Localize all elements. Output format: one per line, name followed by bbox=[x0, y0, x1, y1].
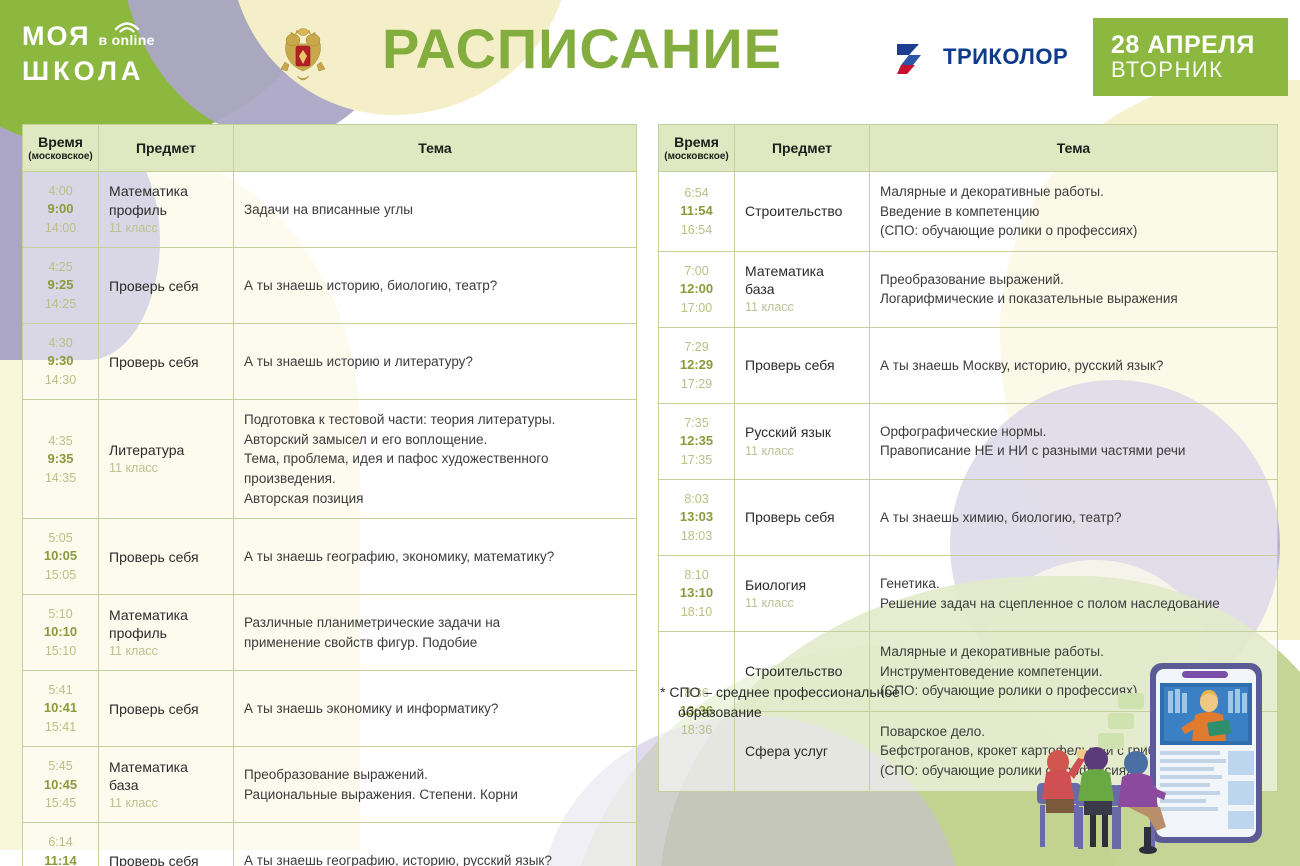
theme-line: Подготовка к тестовой части: теория лите… bbox=[244, 410, 626, 430]
brand-logo: МОЯ в online ШКОЛА bbox=[22, 20, 192, 85]
time-main: 10:45 bbox=[44, 776, 77, 795]
table-row[interactable]: 4:359:3514:35Литература11 классПодготовк… bbox=[23, 400, 636, 519]
subject-grade: 11 класс bbox=[109, 460, 223, 477]
page-header: МОЯ в online ШКОЛА bbox=[0, 0, 1300, 115]
cell-time: 7:3512:3517:35 bbox=[659, 404, 735, 479]
wifi-icon bbox=[114, 20, 140, 33]
subject-name: Проверь себя bbox=[109, 277, 223, 295]
time-main: 11:14 bbox=[44, 852, 77, 866]
date-weekday: ВТОРНИК bbox=[1111, 58, 1288, 82]
online-lesson-illustration bbox=[1032, 655, 1282, 860]
theme-line: А ты знаешь историю и литературу? bbox=[244, 352, 626, 372]
cell-time: 7:0012:0017:00 bbox=[659, 252, 735, 327]
cell-subject: Проверь себя bbox=[99, 324, 234, 399]
theme-line: Логарифмические и показательные выражени… bbox=[880, 289, 1267, 309]
column-header-time-label: Время bbox=[38, 134, 83, 150]
subject-grade: 11 класс bbox=[109, 795, 223, 812]
cell-theme: Различные планиметрические задачи наприм… bbox=[234, 595, 636, 670]
column-header-subject-label: Предмет bbox=[772, 140, 832, 156]
theme-line: А ты знаешь химию, биологию, театр? bbox=[880, 508, 1267, 528]
cell-subject: Проверь себя bbox=[735, 480, 870, 555]
cell-theme: А ты знаешь географию, экономику, матема… bbox=[234, 519, 636, 594]
subject-name: Проверь себя bbox=[745, 356, 859, 374]
time-late: 17:00 bbox=[681, 299, 712, 317]
time-early: 5:45 bbox=[48, 757, 72, 775]
table-row[interactable]: 7:0012:0017:00Математикабаза11 классПрео… bbox=[659, 252, 1277, 328]
subject-name: Математика bbox=[745, 262, 859, 280]
subject-name: Сфера услуг bbox=[745, 742, 859, 760]
subject-name: Проверь себя bbox=[109, 700, 223, 718]
subject-name: база bbox=[745, 280, 859, 298]
cell-time: 4:259:2514:25 bbox=[23, 248, 99, 323]
time-early: 5:41 bbox=[48, 681, 72, 699]
theme-line: (СПО: обучающие ролики о профессиях) bbox=[880, 221, 1267, 241]
column-header-subject: Предмет bbox=[99, 125, 234, 171]
column-header-time-sublabel: (московское) bbox=[664, 151, 728, 162]
cell-theme: А ты знаешь историю и литературу? bbox=[234, 324, 636, 399]
subject-name: Проверь себя bbox=[109, 548, 223, 566]
schedule-infographic: МОЯ в online ШКОЛА bbox=[0, 0, 1300, 866]
time-main: 12:35 bbox=[680, 432, 713, 451]
cell-time: 5:0510:0515:05 bbox=[23, 519, 99, 594]
column-header-time-sublabel: (московское) bbox=[28, 151, 92, 162]
time-late: 16:54 bbox=[681, 221, 712, 239]
time-late: 14:30 bbox=[45, 371, 76, 389]
table-row[interactable]: 8:0313:0318:03Проверь себяА ты знаешь хи… bbox=[659, 480, 1277, 556]
time-early: 5:05 bbox=[48, 529, 72, 547]
time-early: 4:00 bbox=[48, 182, 72, 200]
logo-online-label: в online bbox=[99, 32, 155, 48]
subject-name: Математика bbox=[109, 182, 223, 200]
time-late: 18:10 bbox=[681, 603, 712, 621]
column-header-theme-label: Тема bbox=[1057, 140, 1090, 156]
column-header-subject: Предмет bbox=[735, 125, 870, 171]
time-early: 4:35 bbox=[48, 432, 72, 450]
cell-time: 5:4510:4515:45 bbox=[23, 747, 99, 822]
theme-line: Задачи на вписанные углы bbox=[244, 200, 626, 220]
cell-theme: А ты знаешь историю, биологию, театр? bbox=[234, 248, 636, 323]
cell-time: 8:1013:1018:10 bbox=[659, 556, 735, 631]
subject-name: Строительство bbox=[745, 202, 859, 220]
column-header-time-label: Время bbox=[674, 134, 719, 150]
table-header-row: Время (московское) Предмет Тема bbox=[659, 125, 1277, 172]
time-late: 17:35 bbox=[681, 451, 712, 469]
cell-subject: Математикабаза11 класс bbox=[735, 252, 870, 327]
cell-time: 7:2912:2917:29 bbox=[659, 328, 735, 403]
schedule-table-left: Время (московское) Предмет Тема 4:009:00… bbox=[22, 124, 637, 866]
theme-line: Преобразование выражений. bbox=[244, 765, 626, 785]
theme-line: Правописание НЕ и НИ с разными частями р… bbox=[880, 441, 1267, 461]
subject-grade: 11 класс bbox=[745, 595, 859, 612]
subject-name: Русский язык bbox=[745, 423, 859, 441]
column-header-time: Время (московское) bbox=[659, 125, 735, 171]
time-late: 14:25 bbox=[45, 295, 76, 313]
table-row[interactable]: 6:5411:5416:54СтроительствоМалярные и де… bbox=[659, 172, 1277, 252]
table-row[interactable]: 4:009:0014:00Математикапрофиль11 классЗа… bbox=[23, 172, 636, 248]
cell-subject: Сфера услуг bbox=[735, 712, 870, 791]
time-early: 7:00 bbox=[684, 262, 708, 280]
time-late: 15:45 bbox=[45, 794, 76, 812]
cell-subject: Математикапрофиль11 класс bbox=[99, 172, 234, 247]
theme-line: Решение задач на сцепленное с полом насл… bbox=[880, 594, 1267, 614]
subject-name: Проверь себя bbox=[109, 353, 223, 371]
subject-name: база bbox=[109, 776, 223, 794]
time-main: 9:35 bbox=[47, 450, 73, 469]
theme-line: А ты знаешь Москву, историю, русский язы… bbox=[880, 356, 1267, 376]
partner-logo-tricolor: ТРИКОЛОР bbox=[895, 38, 1068, 76]
column-header-time: Время (московское) bbox=[23, 125, 99, 171]
time-late: 17:29 bbox=[681, 375, 712, 393]
theme-line: Орфографические нормы. bbox=[880, 422, 1267, 442]
table-body-left: 4:009:0014:00Математикапрофиль11 классЗа… bbox=[23, 172, 636, 866]
cell-time: 6:5411:5416:54 bbox=[659, 172, 735, 251]
table-row[interactable]: 6:1411:1416:14Проверь себяА ты знаешь ге… bbox=[23, 823, 636, 866]
cell-time: 4:309:3014:30 bbox=[23, 324, 99, 399]
subject-name: Проверь себя bbox=[109, 852, 223, 866]
cell-subject: Проверь себя bbox=[99, 519, 234, 594]
time-main: 12:29 bbox=[680, 356, 713, 375]
table-row[interactable]: 5:4110:4115:41Проверь себяА ты знаешь эк… bbox=[23, 671, 636, 747]
theme-line: А ты знаешь географию, историю, русский … bbox=[244, 851, 626, 866]
cell-time: 6:1411:1416:14 bbox=[23, 823, 99, 866]
time-late: 18:03 bbox=[681, 527, 712, 545]
cell-theme: А ты знаешь химию, биологию, театр? bbox=[870, 480, 1277, 555]
cell-theme: Преобразование выражений.Логарифмические… bbox=[870, 252, 1277, 327]
time-early: 8:10 bbox=[684, 566, 708, 584]
subject-grade: 11 класс bbox=[109, 643, 223, 660]
cell-subject: Проверь себя bbox=[735, 328, 870, 403]
theme-line: Тема, проблема, идея и пафос художествен… bbox=[244, 449, 626, 469]
cell-subject: Биология11 класс bbox=[735, 556, 870, 631]
cell-time: 8:0313:0318:03 bbox=[659, 480, 735, 555]
cell-subject: Математикабаза11 класс bbox=[99, 747, 234, 822]
cell-subject: Русский язык11 класс bbox=[735, 404, 870, 479]
logo-line-moya: МОЯ bbox=[22, 23, 91, 50]
time-early: 7:35 bbox=[684, 414, 708, 432]
tricolor-chevron-icon bbox=[895, 38, 937, 76]
time-main: 13:03 bbox=[680, 508, 713, 527]
time-early: 4:30 bbox=[48, 334, 72, 352]
theme-line: Генетика. bbox=[880, 574, 1267, 594]
table-row[interactable]: 7:3512:3517:35Русский язык11 классОрфогр… bbox=[659, 404, 1277, 480]
theme-line: Введение в компетенцию bbox=[880, 202, 1267, 222]
time-main: 9:25 bbox=[47, 276, 73, 295]
subject-grade: 11 класс bbox=[745, 299, 859, 316]
table-row[interactable]: 5:0510:0515:05Проверь себяА ты знаешь ге… bbox=[23, 519, 636, 595]
russian-coat-of-arms-icon bbox=[275, 24, 331, 96]
time-early: 8:03 bbox=[684, 490, 708, 508]
subject-name: Строительство bbox=[745, 662, 859, 680]
time-early: 7:29 bbox=[684, 338, 708, 356]
footnote: * СПО – среднее профессиональное образов… bbox=[660, 682, 1020, 723]
subject-name: Математика bbox=[109, 758, 223, 776]
time-early: 6:14 bbox=[48, 833, 72, 851]
time-late: 15:05 bbox=[45, 566, 76, 584]
theme-line: Рациональные выражения. Степени. Корни bbox=[244, 785, 626, 805]
column-header-theme: Тема bbox=[234, 125, 636, 171]
theme-line: Преобразование выражений. bbox=[880, 270, 1267, 290]
table-row[interactable]: 7:2912:2917:29Проверь себяА ты знаешь Мо… bbox=[659, 328, 1277, 404]
cell-theme: Преобразование выражений.Рациональные вы… bbox=[234, 747, 636, 822]
logo-line-shkola: ШКОЛА bbox=[22, 58, 192, 85]
theme-line: произведения. bbox=[244, 469, 626, 489]
page-title: РАСПИСАНИЕ bbox=[382, 18, 782, 80]
subject-name: профиль bbox=[109, 201, 223, 219]
cell-theme: А ты знаешь экономику и информатику? bbox=[234, 671, 636, 746]
table-header-row: Время (московское) Предмет Тема bbox=[23, 125, 636, 172]
cell-theme: Генетика.Решение задач на сцепленное с п… bbox=[870, 556, 1277, 631]
subject-name: Математика bbox=[109, 606, 223, 624]
table-row[interactable]: 5:4510:4515:45Математикабаза11 классПрео… bbox=[23, 747, 636, 823]
time-main: 10:41 bbox=[44, 699, 77, 718]
footnote-line-1: * СПО – среднее профессиональное bbox=[660, 684, 900, 700]
time-main: 11:54 bbox=[680, 202, 713, 221]
cell-subject: Математикапрофиль11 класс bbox=[99, 595, 234, 670]
subject-name: профиль bbox=[109, 624, 223, 642]
cell-theme: Задачи на вписанные углы bbox=[234, 172, 636, 247]
column-header-theme: Тема bbox=[870, 125, 1277, 171]
table-row[interactable]: 4:309:3014:30Проверь себяА ты знаешь ист… bbox=[23, 324, 636, 400]
time-late: 14:00 bbox=[45, 219, 76, 237]
cell-theme: Подготовка к тестовой части: теория лите… bbox=[234, 400, 636, 518]
cell-subject: Литература11 класс bbox=[99, 400, 234, 518]
date-day: 28 АПРЕЛЯ bbox=[1111, 32, 1288, 58]
subject-name: Биология bbox=[745, 576, 859, 594]
cell-theme: А ты знаешь Москву, историю, русский язы… bbox=[870, 328, 1277, 403]
time-early: 4:25 bbox=[48, 258, 72, 276]
theme-line: А ты знаешь историю, биологию, театр? bbox=[244, 276, 626, 296]
theme-line: применение свойств фигур. Подобие bbox=[244, 633, 626, 653]
theme-line: Малярные и декоративные работы. bbox=[880, 182, 1267, 202]
cell-subject: Проверь себя bbox=[99, 823, 234, 866]
time-late: 14:35 bbox=[45, 469, 76, 487]
theme-line: А ты знаешь экономику и информатику? bbox=[244, 699, 626, 719]
subject-grade: 11 класс bbox=[109, 220, 223, 237]
cell-theme: Малярные и декоративные работы.Введение … bbox=[870, 172, 1277, 251]
subject-name: Литература bbox=[109, 441, 223, 459]
subject-name: Проверь себя bbox=[745, 508, 859, 526]
column-header-subject-label: Предмет bbox=[136, 140, 196, 156]
cell-theme: Орфографические нормы.Правописание НЕ и … bbox=[870, 404, 1277, 479]
cell-time: 4:009:0014:00 bbox=[23, 172, 99, 247]
theme-line: Авторский замысел и его воплощение. bbox=[244, 430, 626, 450]
time-late: 18:36 bbox=[681, 721, 712, 739]
theme-line: Различные планиметрические задачи на bbox=[244, 613, 626, 633]
time-main: 12:00 bbox=[680, 280, 713, 299]
time-main: 9:00 bbox=[47, 200, 73, 219]
time-main: 13:10 bbox=[680, 584, 713, 603]
time-main: 10:05 bbox=[44, 547, 77, 566]
cell-time: 5:1010:1015:10 bbox=[23, 595, 99, 670]
table-row[interactable]: 4:259:2514:25Проверь себяА ты знаешь ист… bbox=[23, 248, 636, 324]
time-main: 9:30 bbox=[47, 352, 73, 371]
column-header-theme-label: Тема bbox=[418, 140, 451, 156]
cell-subject: Строительство bbox=[735, 172, 870, 251]
time-late: 15:10 bbox=[45, 642, 76, 660]
table-row[interactable]: 5:1010:1015:10Математикапрофиль11 классР… bbox=[23, 595, 636, 671]
cell-time: 5:4110:4115:41 bbox=[23, 671, 99, 746]
cell-theme: А ты знаешь географию, историю, русский … bbox=[234, 823, 636, 866]
date-badge: 28 АПРЕЛЯ ВТОРНИК bbox=[1093, 18, 1288, 96]
partner-name: ТРИКОЛОР bbox=[943, 44, 1068, 70]
time-main: 10:10 bbox=[44, 623, 77, 642]
cell-subject: Проверь себя bbox=[99, 248, 234, 323]
theme-line: Авторская позиция bbox=[244, 489, 626, 509]
time-early: 5:10 bbox=[48, 605, 72, 623]
time-early: 6:54 bbox=[684, 184, 708, 202]
time-late: 15:41 bbox=[45, 718, 76, 736]
theme-line: А ты знаешь географию, экономику, матема… bbox=[244, 547, 626, 567]
footnote-line-2: образование bbox=[660, 702, 1020, 722]
cell-time: 4:359:3514:35 bbox=[23, 400, 99, 518]
table-row[interactable]: 8:1013:1018:10Биология11 классГенетика.Р… bbox=[659, 556, 1277, 632]
subject-grade: 11 класс bbox=[745, 443, 859, 460]
cell-subject: Проверь себя bbox=[99, 671, 234, 746]
